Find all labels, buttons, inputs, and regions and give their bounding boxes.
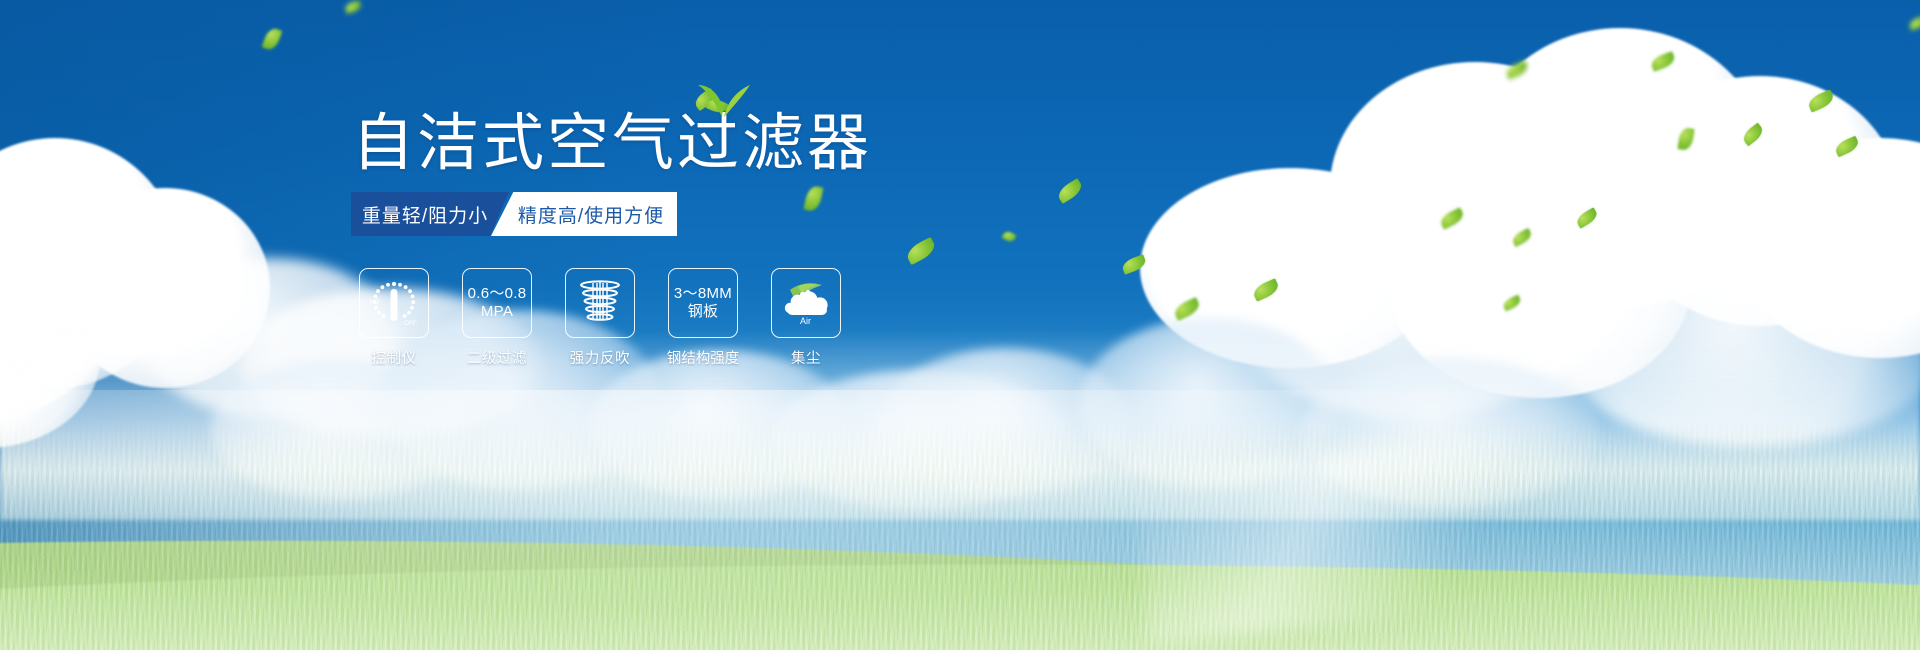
dial-off-label: OFF (404, 320, 417, 327)
banner-title-row: 自洁式空气过滤器 (352, 113, 872, 175)
filter-cartridge-icon (573, 277, 627, 329)
title-leaf-decoration (696, 79, 752, 119)
dust-cloud-icon: Air (778, 280, 834, 326)
tagline-pill-1[interactable]: 重量轻/阻力小 (351, 192, 509, 236)
feature-label-dust: 集尘 (791, 347, 821, 368)
feature-box-steel: 3～8MM 钢板 (668, 268, 738, 338)
feature-box-pressure: 0.6～0.8 MPA (462, 268, 532, 338)
feature-label-pressure: 二级过滤 (467, 347, 527, 368)
feature-box-control: NO OFF (359, 268, 429, 338)
feature-item-backblow[interactable]: 强力反吹 (562, 268, 638, 368)
control-dial-icon: NO OFF (366, 277, 422, 329)
air-label: Air (800, 316, 811, 326)
feature-icon-row: NO OFF 控制仪 0.6～0.8 MPA 二级过滤 (356, 268, 844, 368)
feature-label-steel: 钢结构强度 (667, 347, 740, 368)
pressure-value-line2: MPA (481, 303, 513, 321)
feature-item-dust[interactable]: Air 集尘 (768, 268, 844, 368)
product-hero-banner: 自洁式空气过滤器 重量轻/阻力小 精度高/使用方便 (0, 0, 1920, 650)
feature-item-pressure[interactable]: 0.6～0.8 MPA 二级过滤 (459, 268, 535, 368)
banner-content: 自洁式空气过滤器 重量轻/阻力小 精度高/使用方便 (0, 0, 1920, 650)
tagline-pill-group: 重量轻/阻力小 精度高/使用方便 (351, 192, 677, 236)
tagline-pill-2[interactable]: 精度高/使用方便 (491, 192, 677, 236)
page-title: 自洁式空气过滤器 (352, 113, 872, 175)
dial-on-label: NO (370, 299, 380, 306)
pressure-value-line1: 0.6～0.8 (468, 285, 527, 303)
feature-label-control: 控制仪 (371, 347, 416, 368)
feature-box-dust: Air (771, 268, 841, 338)
feature-box-backblow (565, 268, 635, 338)
feature-item-control[interactable]: NO OFF 控制仪 (356, 268, 432, 368)
steel-value-line2: 钢板 (688, 303, 719, 321)
feature-item-steel[interactable]: 3～8MM 钢板 钢结构强度 (665, 268, 741, 368)
steel-value-line1: 3～8MM (674, 285, 732, 303)
feature-label-backblow: 强力反吹 (570, 347, 630, 368)
